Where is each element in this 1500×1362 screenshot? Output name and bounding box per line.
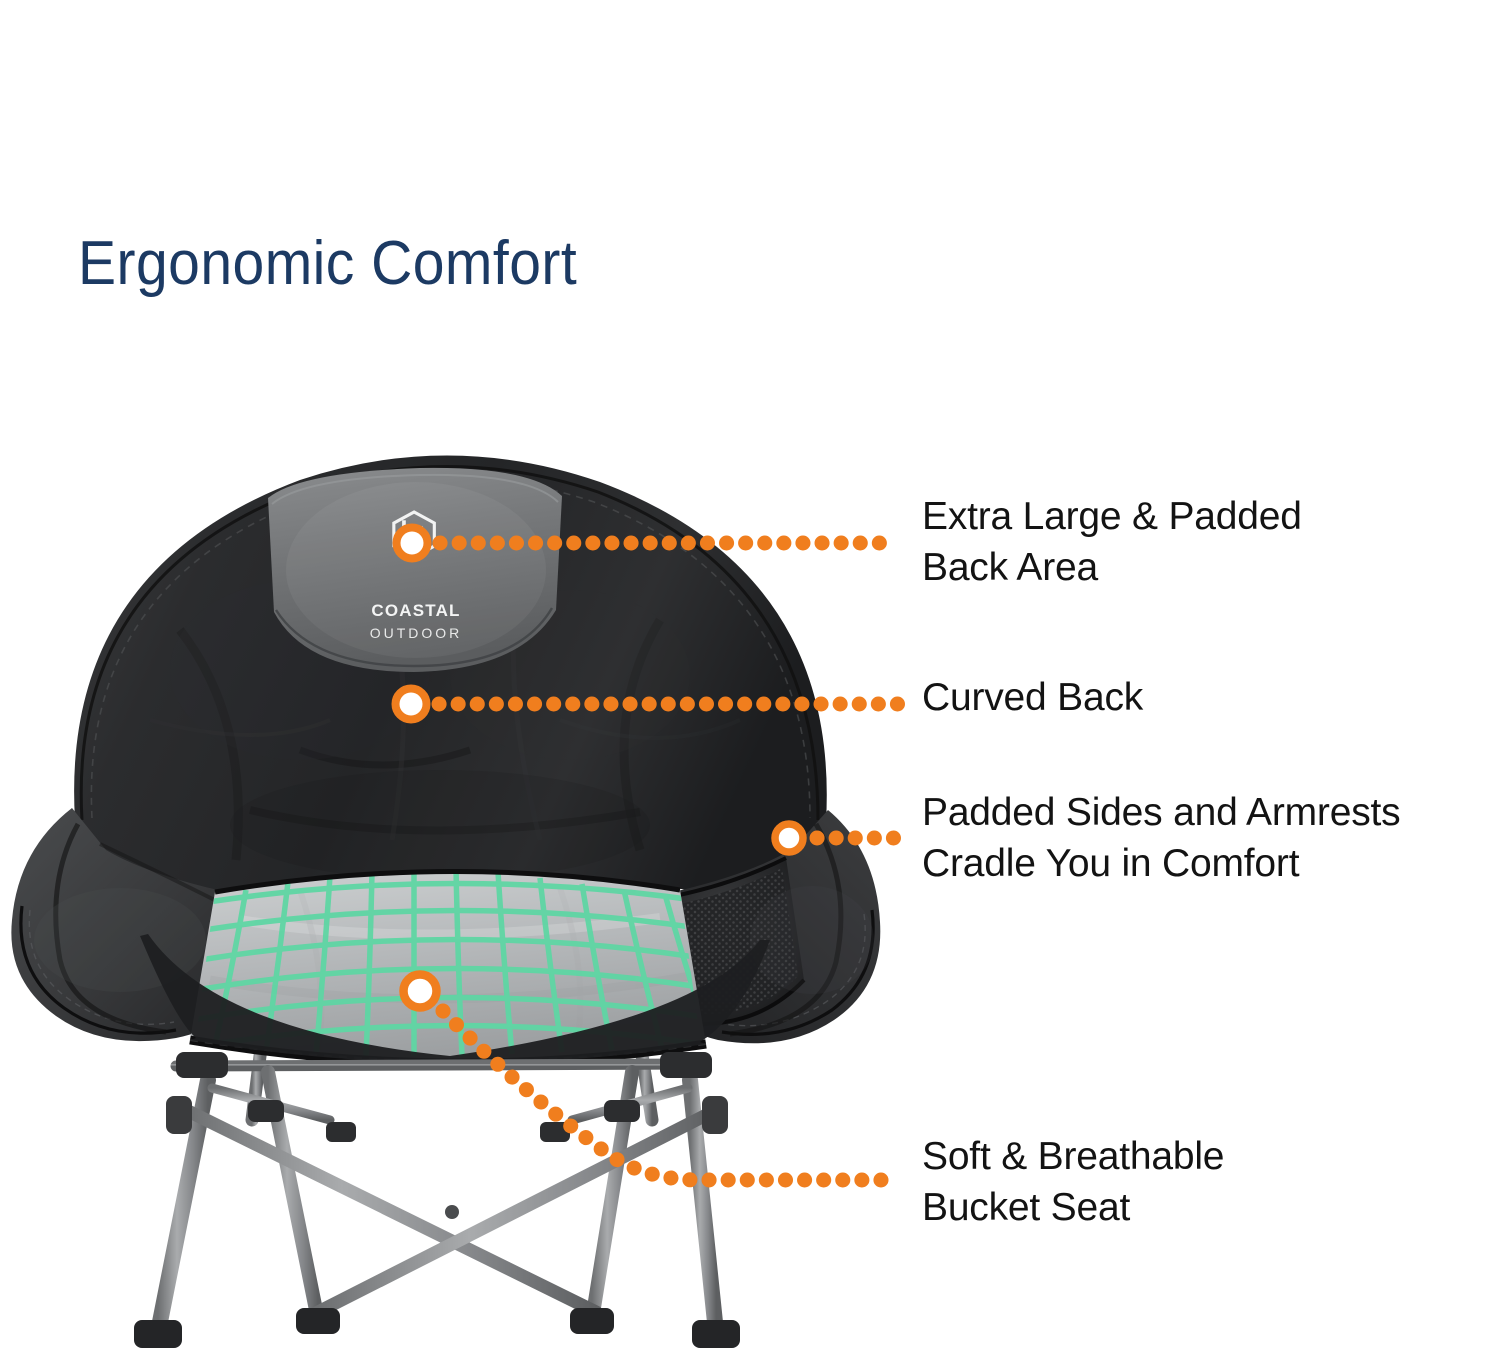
callout-label-padded-sides-and-armrests: Padded Sides and Armrests Cradle You in … bbox=[922, 788, 1400, 889]
callout-line: Back Area bbox=[922, 543, 1302, 594]
callout-line: Cradle You in Comfort bbox=[922, 839, 1400, 890]
infographic-page: Ergonomic Comfort bbox=[0, 0, 1500, 1362]
product-illustration: COASTAL OUTDOOR bbox=[0, 420, 900, 1362]
callout-line: Soft & Breathable bbox=[922, 1132, 1224, 1183]
callout-line: Padded Sides and Armrests bbox=[922, 788, 1400, 839]
callout-label-curved-back: Curved Back bbox=[922, 673, 1143, 724]
brand-logo-line1: COASTAL bbox=[371, 601, 460, 620]
brand-logo-line2: OUTDOOR bbox=[370, 625, 463, 641]
callout-line: Extra Large & Padded bbox=[922, 492, 1302, 543]
callout-label-soft-breathable-bucket-seat: Soft & Breathable Bucket Seat bbox=[922, 1132, 1224, 1233]
frame-legs bbox=[134, 1052, 740, 1348]
headrest-panel: COASTAL OUTDOOR bbox=[268, 468, 562, 672]
callout-line: Bucket Seat bbox=[922, 1183, 1224, 1234]
page-title: Ergonomic Comfort bbox=[78, 228, 577, 299]
callout-label-extra-large-padded-back-area: Extra Large & Padded Back Area bbox=[922, 492, 1302, 593]
callout-line: Curved Back bbox=[922, 673, 1143, 724]
